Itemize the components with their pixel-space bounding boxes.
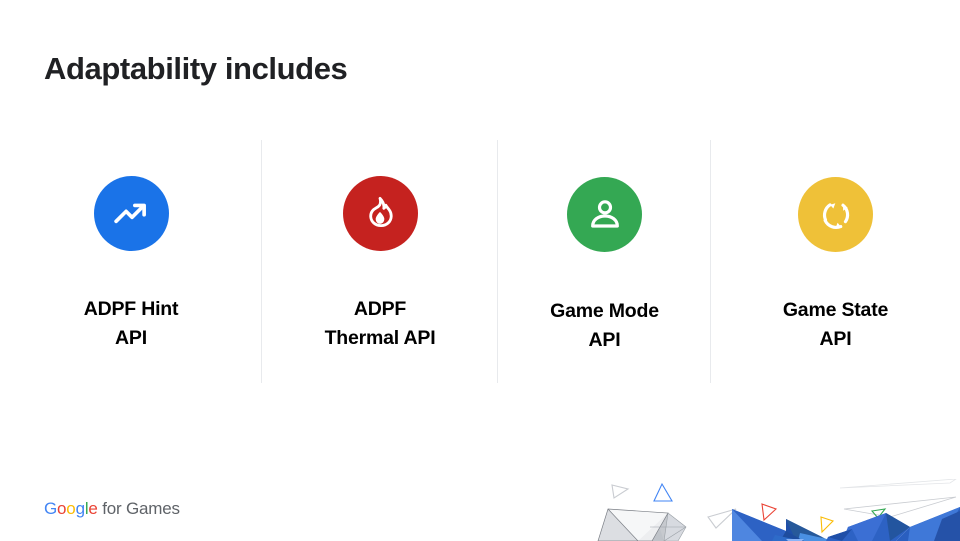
logo-letter-e1: e <box>88 499 97 518</box>
feature-label: ADPF Thermal API <box>325 295 436 354</box>
slide-canvas: Adaptability includes ADPF Hint API ADPF… <box>0 0 960 541</box>
trending-up-icon <box>94 176 169 251</box>
person-icon <box>567 177 642 252</box>
feature-label: Game Mode API <box>550 297 659 356</box>
flame-icon <box>343 176 418 251</box>
google-for-games-logo: Google for Games <box>44 499 180 519</box>
logo-letter-o1: o <box>57 499 66 518</box>
logo-letter-g2: g <box>76 499 85 518</box>
feature-item-adpf-hint-api[interactable]: ADPF Hint API <box>0 140 262 385</box>
logo-letter-g1: G <box>44 499 57 518</box>
feature-label: ADPF Hint API <box>84 295 179 354</box>
refresh-cycle-icon <box>798 177 873 252</box>
feature-item-game-mode-api[interactable]: Game Mode API <box>498 140 711 385</box>
feature-row: ADPF Hint API ADPF Thermal API Gam <box>0 140 960 385</box>
low-poly-triangles-graphic <box>590 479 960 541</box>
page-title: Adaptability includes <box>44 50 347 89</box>
feature-label: Game State API <box>783 296 888 355</box>
feature-item-game-state-api[interactable]: Game State API <box>711 140 960 385</box>
feature-item-adpf-thermal-api[interactable]: ADPF Thermal API <box>262 140 498 385</box>
logo-suffix: for Games <box>98 499 180 518</box>
logo-letter-o2: o <box>66 499 75 518</box>
